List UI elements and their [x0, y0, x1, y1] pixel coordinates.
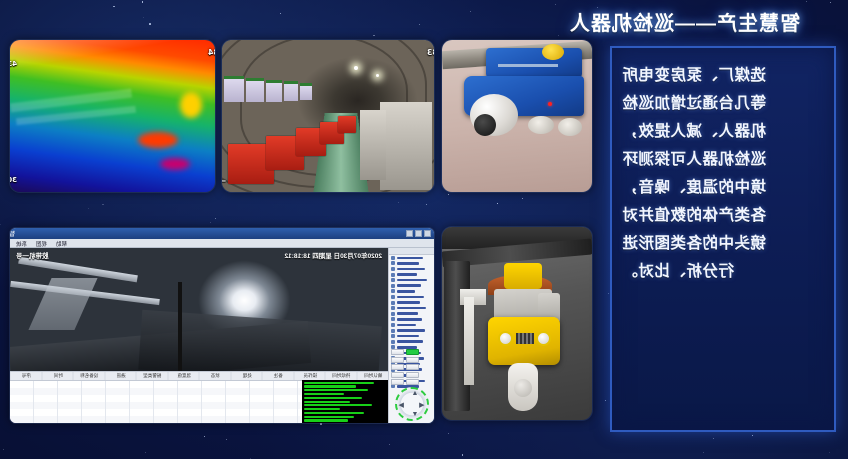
description-line: 境中的温度、噪音， [622, 174, 824, 202]
terminal-log-line [304, 419, 348, 421]
robot-wheel [558, 118, 582, 136]
ptz-button[interactable] [406, 349, 419, 355]
terminal-log-line [304, 397, 362, 399]
description-line: 巡检机器人可探测环 [622, 146, 824, 174]
device-node-label [397, 335, 419, 338]
window-titlebar: 智能巡检系统 - 视频监控 [10, 228, 434, 239]
ptz-down-icon[interactable]: ▼ [412, 411, 419, 418]
device-node-label [397, 273, 417, 276]
thermal-osd-timestamp: 2019-09-30 星期一 10:43:34 [208, 47, 215, 58]
description-text-content: 选煤厂、泵房变电所等几台通过增加巡检机器人、减人提效，巡检机器人可探测环境中的温… [622, 62, 824, 286]
tunnel-location-label: —1155变电所 [222, 175, 226, 186]
device-node-icon [391, 273, 395, 277]
thermal-coldspot [160, 158, 190, 170]
device-node-label [397, 318, 422, 321]
description-line: 各类产体的数值并对 [622, 202, 824, 230]
window-title: 智能巡检系统 - 视频监控 [10, 229, 15, 238]
menu-item-view[interactable]: 视图 [36, 240, 47, 248]
ptz-button[interactable] [391, 379, 404, 385]
table-column-header: 时间 [42, 372, 74, 380]
table-column-header: 报警类型 [136, 372, 168, 380]
table-column-header: 设备名称 [73, 372, 105, 380]
terminal-log-line [304, 412, 364, 414]
device-node-icon [391, 323, 395, 327]
thermal-temp-high: 43.3℃ [10, 60, 17, 68]
device-node-icon [391, 289, 395, 293]
thermal-hotspot [180, 92, 202, 118]
robot-headlamp [498, 331, 513, 346]
video-osd-time: 2020年07月30日 星期四 18:18:12 [284, 250, 382, 260]
terminal-log-line [304, 416, 354, 418]
terminal-log-line [304, 382, 374, 384]
device-node-label [397, 312, 418, 315]
terminal-log-line [304, 389, 368, 391]
tunnel-noticeboard [224, 76, 244, 102]
minimize-button[interactable] [406, 230, 413, 237]
device-node-icon [391, 301, 395, 305]
device-node-icon [391, 267, 395, 271]
menu-item-help[interactable]: 帮助 [56, 240, 67, 248]
robot-camera-lens [474, 114, 496, 136]
page-title-container: 智慧生产——巡检机器人 [534, 4, 834, 38]
ptz-control-panel[interactable]: ▲ ▼ ◀ ▶ [391, 349, 432, 421]
video-osd-bar: 2020年07月30日 星期四 18:18:12 胶带机一号 [16, 250, 382, 260]
ptz-button[interactable] [406, 379, 419, 385]
description-line: 镜头中的各类图形进 [622, 230, 824, 258]
device-node-icon [391, 306, 395, 310]
robot-wheel [528, 116, 554, 134]
robot-antenna-bar [498, 64, 558, 67]
device-node-icon [391, 317, 395, 321]
window-menubar[interactable]: 系统 视图 帮助 [10, 239, 434, 248]
tunnel-equipment-rack [380, 102, 432, 190]
device-node-icon [391, 334, 395, 338]
tunnel-noticeboard [266, 80, 282, 102]
tunnel-noticeboard [300, 83, 312, 100]
device-node-icon [391, 329, 395, 333]
device-node-icon [391, 284, 395, 288]
support-post [464, 297, 474, 385]
thermal-hotspot [138, 132, 178, 148]
inspection-software-window[interactable]: 智能巡检系统 - 视频监控 系统 视图 帮助 2020年07月30日 星期四 1… [10, 228, 434, 423]
device-node-icon [391, 312, 395, 316]
device-node-label [397, 301, 420, 304]
terminal-log-line [304, 385, 356, 387]
table-column-header: 备注 [262, 372, 294, 380]
video-osd-channel: 胶带机一号 [16, 250, 49, 260]
yellow-inspection-robot-image [442, 227, 592, 420]
table-column-header: 确认时间 [357, 372, 389, 380]
maximize-button[interactable] [415, 230, 422, 237]
robot-front-grill [516, 333, 534, 344]
robot-headlamp [536, 331, 551, 346]
device-node-icon [391, 256, 395, 260]
ptz-button[interactable] [391, 364, 404, 370]
ptz-left-icon[interactable]: ◀ [399, 401, 404, 409]
ptz-button[interactable] [406, 364, 419, 370]
device-node-label [397, 340, 423, 343]
device-node-label [397, 257, 423, 260]
robot-camera-lens [514, 379, 532, 397]
table-column-header: 操作员 [294, 372, 326, 380]
device-tree-sidebar[interactable]: ▲ ▼ ◀ ▶ [388, 248, 434, 423]
description-line: 等几台通过增加巡检 [622, 90, 824, 118]
tunnel-lamp [376, 74, 379, 77]
description-line: 机器人、减人提效， [622, 118, 824, 146]
terminal-log-line [304, 401, 350, 403]
conveyor-column [178, 282, 182, 382]
tunnel-equipment-rack [360, 110, 386, 180]
thermal-camera-image: 2019-09-30 星期一 10:43:34 43.3℃ 30.1℃ [10, 40, 215, 192]
device-node-icon [391, 261, 395, 265]
device-node-icon [391, 295, 395, 299]
device-node-label [397, 296, 424, 299]
table-column-header: 通道 [105, 372, 137, 380]
description-text-panel: 选煤厂、泵房变电所等几台通过增加巡检机器人、减人提效，巡检机器人可探测环境中的温… [610, 46, 836, 432]
table-column-header: 处理 [231, 372, 263, 380]
alarm-log-table[interactable]: 序号时间设备名称通道报警类型温度值状态处理备注操作员持续时间确认时间 [10, 371, 388, 423]
tunnel-lamp [354, 66, 358, 70]
device-node-label [397, 290, 415, 293]
device-node-label [397, 307, 426, 310]
table-column-header: 序号 [10, 372, 42, 380]
tunnel-noticeboard [246, 78, 264, 102]
blue-inspection-robot-image [442, 40, 592, 192]
robot-yellow-reel [542, 44, 564, 60]
page-title: 智慧生产——巡检机器人 [569, 7, 800, 36]
table-column-header: 持续时间 [325, 372, 357, 380]
menu-item-system[interactable]: 系统 [16, 240, 27, 248]
device-node-label [397, 284, 421, 287]
robot-status-led [548, 102, 552, 106]
device-node-label [397, 262, 419, 265]
robot-rail-clamp [504, 263, 542, 289]
terminal-log-line [304, 408, 340, 410]
device-node-icon [391, 278, 395, 282]
table-column-header: 温度值 [168, 372, 200, 380]
device-node-label [397, 279, 427, 282]
ptz-direction-dial[interactable]: ▲ ▼ ◀ ▶ [395, 387, 429, 421]
ptz-button-grid[interactable] [391, 349, 432, 385]
close-button[interactable] [424, 230, 431, 237]
tunnel-noticeboard [284, 81, 298, 101]
ptz-button[interactable] [406, 372, 419, 378]
terminal-log-line [304, 404, 372, 406]
window-controls[interactable] [406, 230, 431, 237]
device-node-label [397, 324, 416, 327]
description-line: 行分析、比对。 [622, 258, 824, 286]
robot-upper-chassis [486, 48, 582, 78]
terminal-log-panel [302, 380, 388, 423]
table-column-header: 状态 [199, 372, 231, 380]
device-node-label [397, 329, 425, 332]
device-node-label [397, 268, 425, 271]
ptz-button[interactable] [391, 349, 404, 355]
ptz-up-icon[interactable]: ▲ [412, 390, 419, 397]
thermal-temp-low: 30.1℃ [10, 176, 17, 184]
ptz-button[interactable] [391, 372, 404, 378]
device-tree-header [389, 248, 434, 255]
device-node-icon [391, 340, 395, 344]
ptz-button[interactable] [391, 357, 404, 363]
tunnel-camera-image: 2019-09-30 星期一 10:43:33 —1155变电所 [222, 40, 434, 192]
ptz-button[interactable] [406, 357, 419, 363]
tunnel-osd-timestamp: 2019-09-30 星期一 10:43:33 [427, 47, 434, 58]
tunnel-red-cart [338, 116, 356, 133]
description-line: 选煤厂、泵房变电所 [622, 62, 824, 90]
terminal-log-line [304, 393, 344, 395]
ptz-right-icon[interactable]: ▶ [419, 401, 424, 409]
